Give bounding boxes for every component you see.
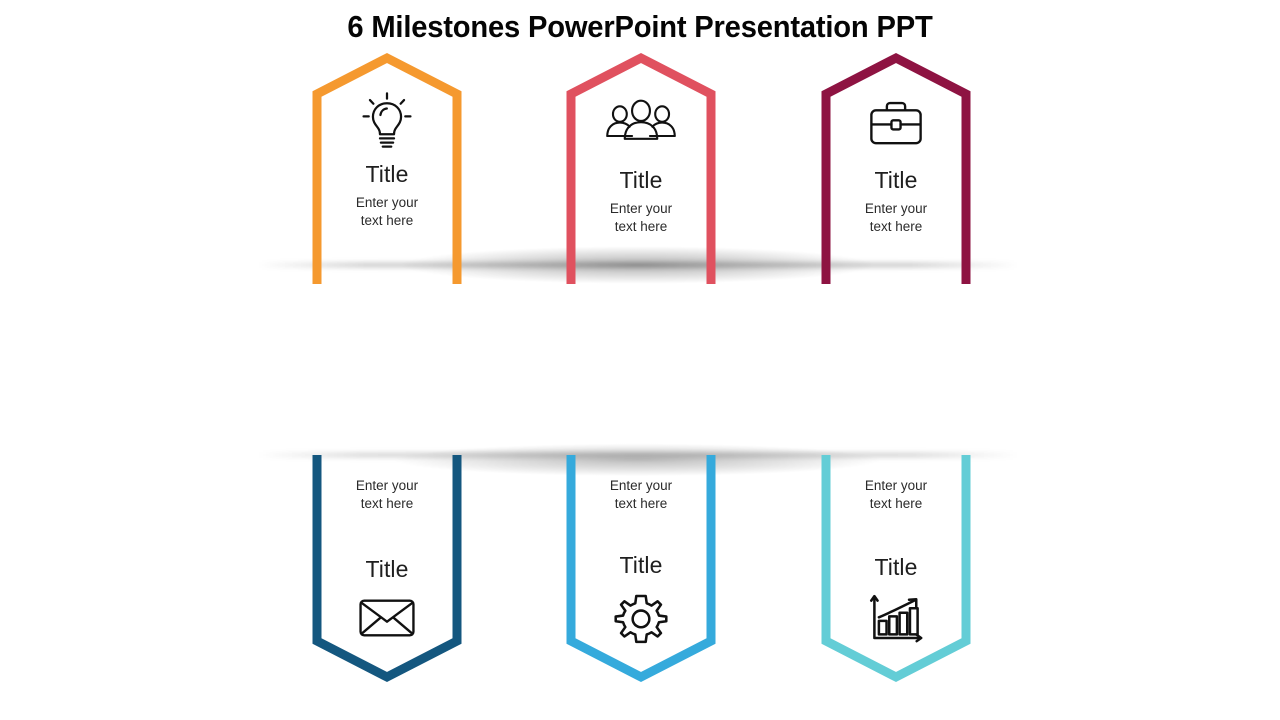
banner-description-line-2: text here bbox=[563, 495, 719, 513]
page-title: 6 Milestones PowerPoint Presentation PPT bbox=[38, 9, 1241, 45]
banner-description-line-1: Enter your bbox=[818, 477, 974, 495]
banner-description-line-1: Enter your bbox=[563, 200, 719, 218]
banner-content: Enter your text here Title bbox=[563, 477, 719, 653]
banner-content: Title Enter your text here bbox=[818, 92, 974, 236]
icon-container bbox=[563, 591, 719, 653]
banner-description-line-2: text here bbox=[309, 212, 465, 230]
banner-description-line-2: text here bbox=[818, 218, 974, 236]
icon-container bbox=[818, 593, 974, 655]
lightbulb-icon bbox=[357, 92, 417, 152]
banner-description-line-2: text here bbox=[309, 495, 465, 513]
gear-icon bbox=[612, 591, 670, 649]
milestone-banner-5[interactable]: Enter your text here Title bbox=[563, 455, 719, 683]
banner-description-line-1: Enter your bbox=[818, 200, 974, 218]
banner-content: Enter your text here Title bbox=[309, 477, 465, 657]
milestone-banner-4[interactable]: Enter your text here Title bbox=[309, 455, 465, 683]
banner-description-line-2: text here bbox=[563, 218, 719, 236]
envelope-icon bbox=[356, 595, 418, 641]
banner-description-line-1: Enter your bbox=[309, 194, 465, 212]
banner-content: Title Enter your text here bbox=[309, 92, 465, 230]
banner-description-line-2: text here bbox=[818, 495, 974, 513]
banner-description: Enter your text here bbox=[309, 194, 465, 230]
banner-description: Enter your text here bbox=[309, 477, 465, 513]
milestone-banner-1[interactable]: Title Enter your text here bbox=[309, 52, 465, 284]
icon-container bbox=[818, 98, 974, 162]
banner-description: Enter your text here bbox=[818, 477, 974, 513]
banner-description: Enter your text here bbox=[818, 200, 974, 236]
banner-content: Enter your text here Title bbox=[818, 477, 974, 655]
bar-chart-growth-icon bbox=[866, 593, 926, 647]
milestone-banner-3[interactable]: Title Enter your text here bbox=[818, 52, 974, 284]
banner-title: Title bbox=[309, 162, 465, 186]
milestone-banner-6[interactable]: Enter your text here Title bbox=[818, 455, 974, 683]
banner-title: Title bbox=[309, 557, 465, 581]
banner-description-line-1: Enter your bbox=[309, 477, 465, 495]
milestone-banner-2[interactable]: Title Enter your text here bbox=[563, 52, 719, 284]
briefcase-icon bbox=[865, 98, 927, 150]
banner-title: Title bbox=[818, 555, 974, 579]
icon-container bbox=[309, 92, 465, 156]
slide-canvas: 6 Milestones PowerPoint Presentation PPT bbox=[0, 0, 1280, 720]
banner-description: Enter your text here bbox=[563, 477, 719, 513]
banner-title: Title bbox=[818, 168, 974, 192]
people-group-icon bbox=[602, 98, 680, 148]
banner-description: Enter your text here bbox=[563, 200, 719, 236]
banner-content: Title Enter your text here bbox=[563, 92, 719, 236]
banner-title: Title bbox=[563, 168, 719, 192]
banner-description-line-1: Enter your bbox=[563, 477, 719, 495]
banner-title: Title bbox=[563, 553, 719, 577]
icon-container bbox=[309, 595, 465, 657]
icon-container bbox=[563, 98, 719, 162]
